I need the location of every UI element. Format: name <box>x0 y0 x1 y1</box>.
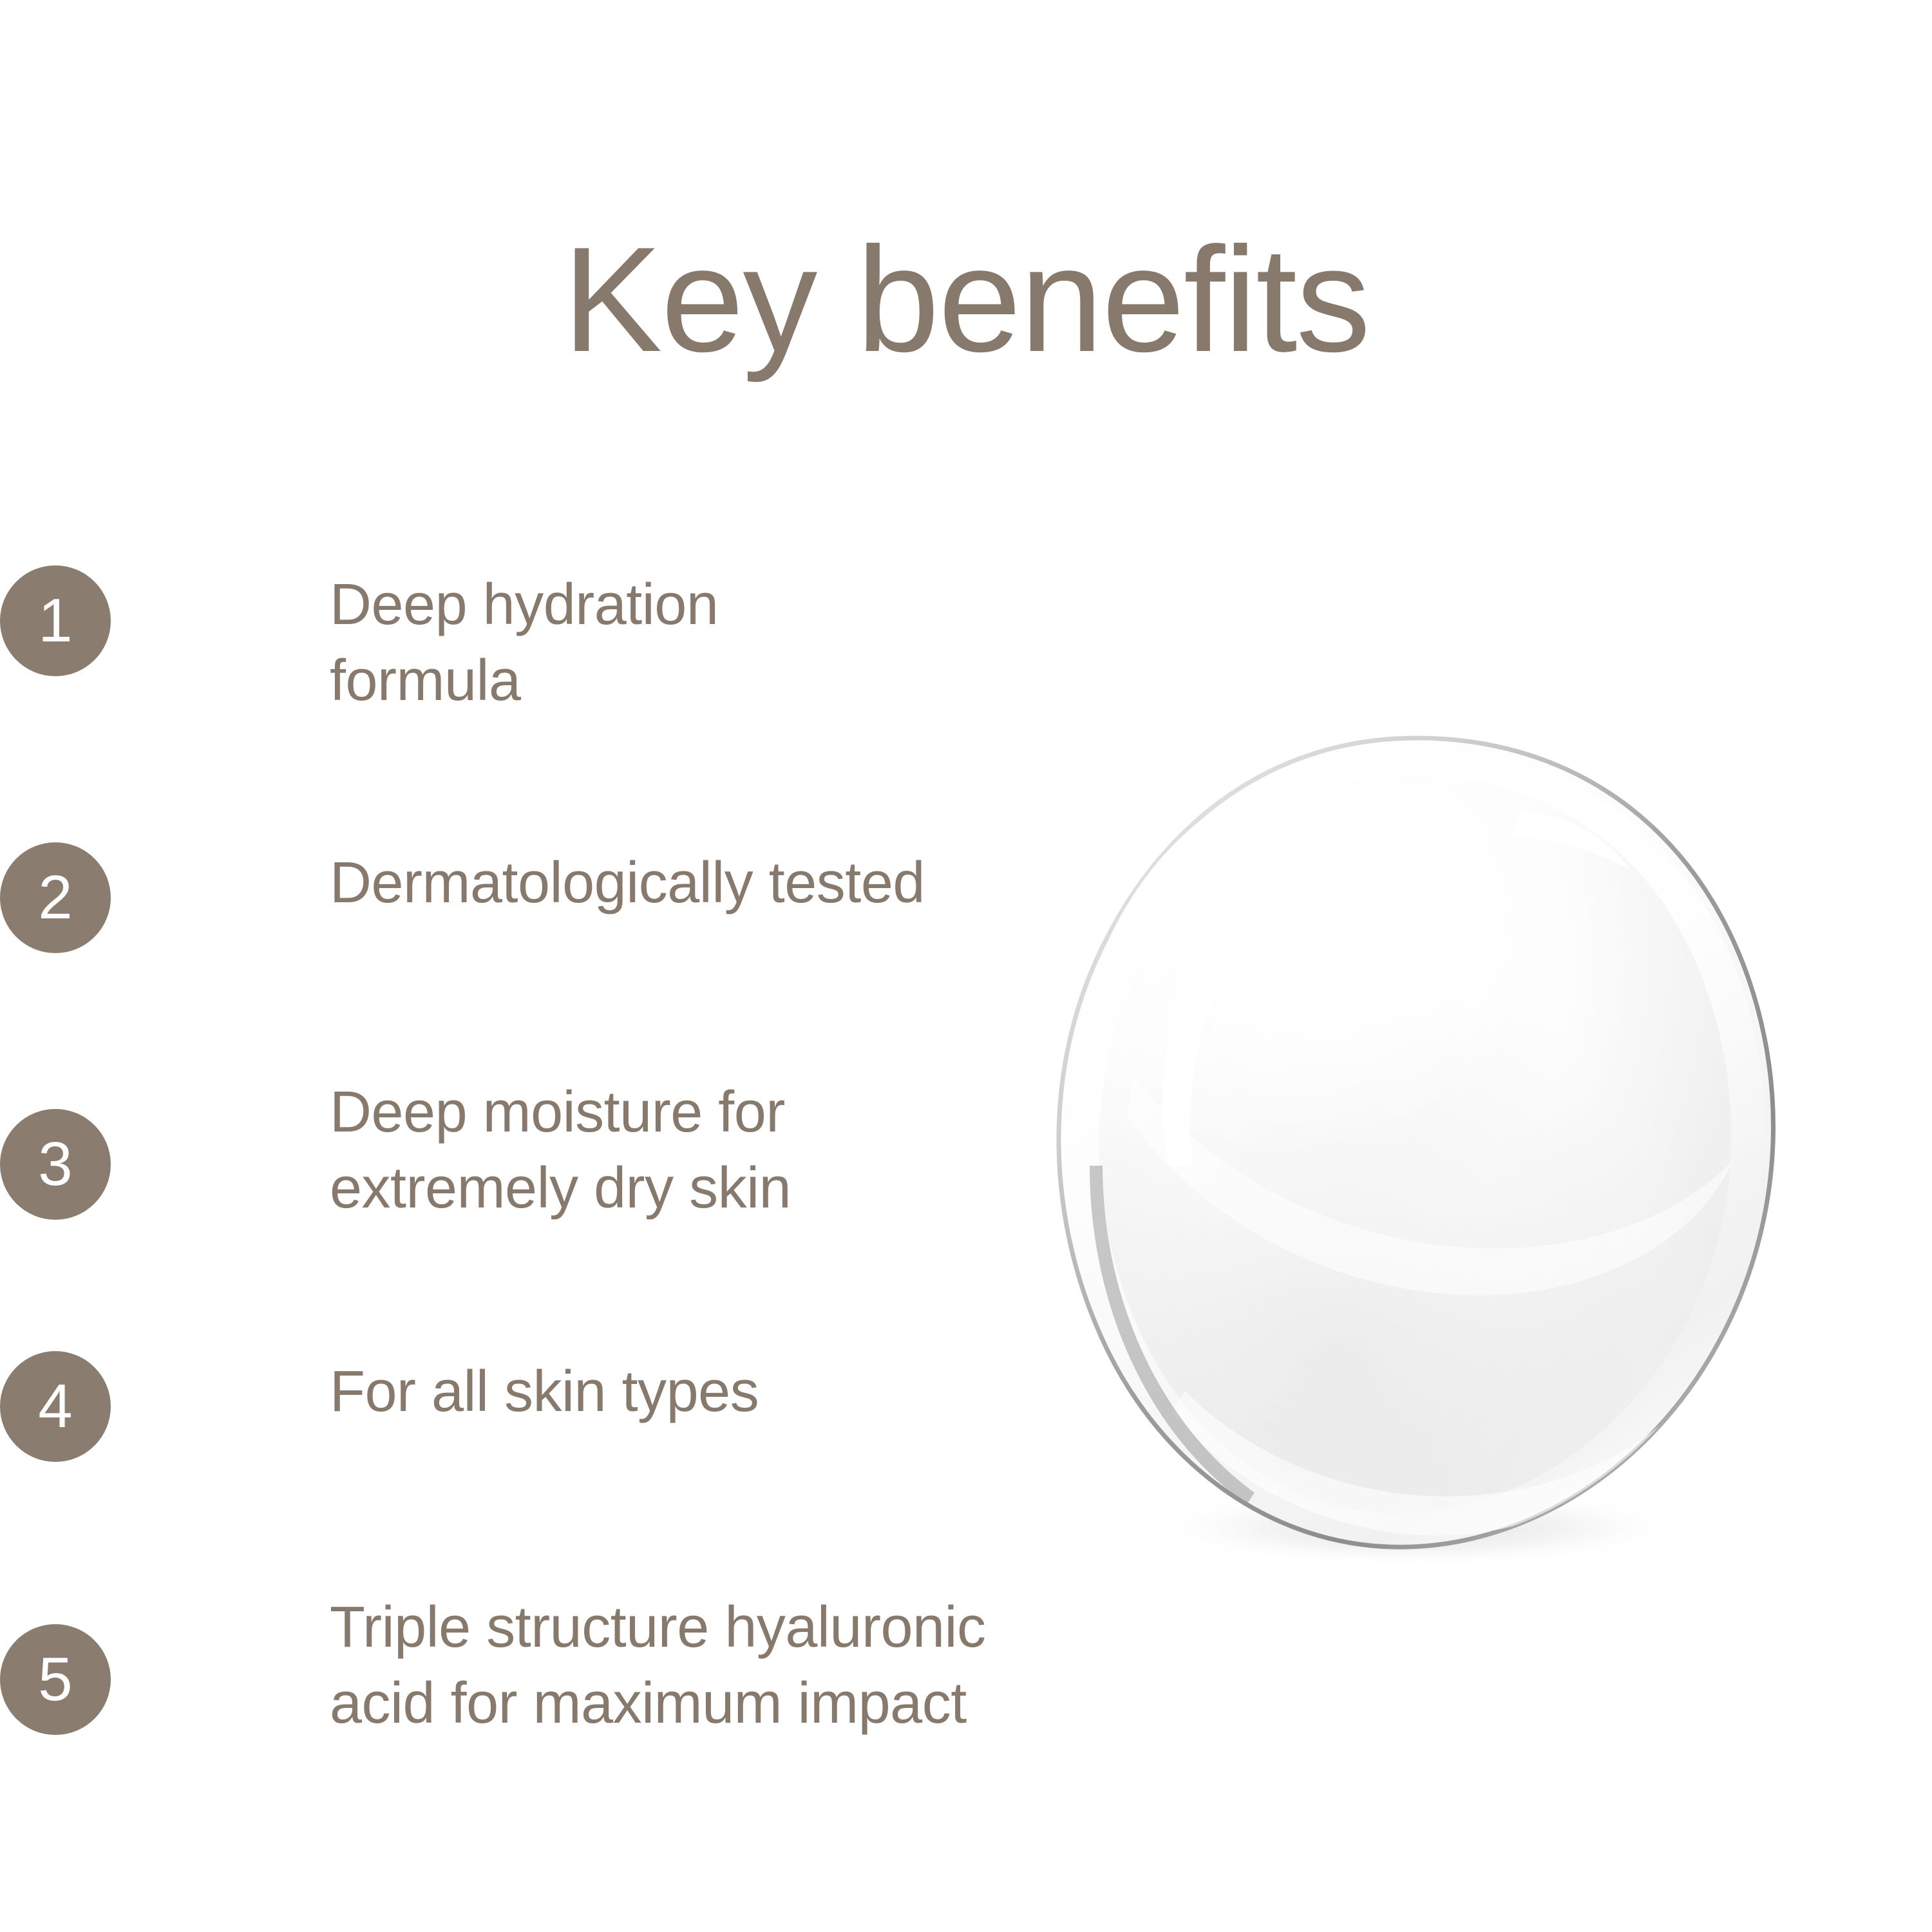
gel-droplet-svg <box>1030 715 1803 1578</box>
benefit-label-5: Triple structure hyaluronic acid for max… <box>330 1589 986 1741</box>
product-benefits-page: Key benefits 1 Deep hydration formula 2 … <box>0 0 1932 1932</box>
benefit-label-2: Dermatologically tested <box>330 845 925 921</box>
benefits-list: 1 Deep hydration formula 2 Dermatologica… <box>0 0 1043 1932</box>
benefit-number-badge-2: 2 <box>0 842 111 953</box>
benefit-number-badge-5: 5 <box>0 1624 111 1735</box>
gel-droplet-image <box>1030 715 1803 1578</box>
benefit-label-4: For all skin types <box>330 1354 759 1430</box>
benefit-number-badge-3: 3 <box>0 1109 111 1220</box>
benefit-label-1: Deep hydration formula <box>330 567 718 719</box>
benefit-number-badge-4: 4 <box>0 1351 111 1462</box>
benefit-number-badge-1: 1 <box>0 565 111 676</box>
benefit-label-3: Deep moisture for extremely dry skin <box>330 1074 791 1226</box>
